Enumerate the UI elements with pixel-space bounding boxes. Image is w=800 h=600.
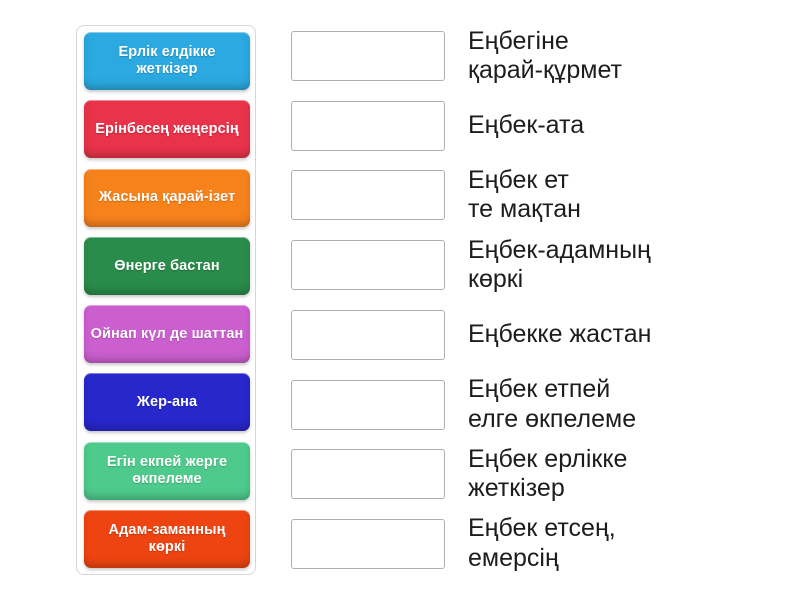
- draggable-tile[interactable]: Ерлік елдікке жеткізер: [84, 32, 250, 90]
- answer-row: Еңбекке жастан: [291, 304, 785, 366]
- answer-text: Еңбек ет те мақтан: [468, 166, 785, 225]
- draggable-tile[interactable]: Жер-ана: [84, 373, 250, 431]
- tile-label: Адам-заманның көркі: [90, 522, 244, 555]
- answer-text: Еңбек етпей елге өкпелеме: [468, 375, 785, 434]
- answer-row: Еңбек ет те мақтан: [291, 164, 785, 226]
- answer-text: Еңбек етсең, емерсің: [468, 514, 785, 573]
- draggable-tile-tray: Ерлік елдікке жеткізер Ерінбесең жеңерсі…: [76, 25, 256, 575]
- drop-slot[interactable]: [291, 170, 445, 220]
- answer-text: Еңбек-адамның көркі: [468, 236, 785, 295]
- tile-label: Егін екпей жерге өкпелеме: [90, 454, 244, 487]
- drop-slot[interactable]: [291, 380, 445, 430]
- answer-text: Еңбек-ата: [468, 111, 785, 141]
- draggable-tile[interactable]: Өнерге бастан: [84, 237, 250, 295]
- draggable-tile[interactable]: Егін екпей жерге өкпелеме: [84, 442, 250, 500]
- answer-row: Еңбек-адамның көркі: [291, 234, 785, 296]
- answer-text: Еңбекке жастан: [468, 320, 785, 350]
- answer-row: Еңбек ерлікке жеткізер: [291, 443, 785, 505]
- tile-label: Ерінбесең жеңерсің: [90, 121, 244, 138]
- answer-row: Еңбек етсең, емерсің: [291, 513, 785, 575]
- tile-label: Өнерге бастан: [90, 258, 244, 275]
- draggable-tile[interactable]: Адам-заманның көркі: [84, 510, 250, 568]
- tile-label: Ойнап күл де шаттан: [90, 326, 244, 343]
- draggable-tile[interactable]: Ерінбесең жеңерсің: [84, 100, 250, 158]
- tile-label: Жасына қарай-ізет: [90, 189, 244, 206]
- drop-slot[interactable]: [291, 31, 445, 81]
- drop-slot[interactable]: [291, 101, 445, 151]
- drop-slot[interactable]: [291, 310, 445, 360]
- answer-text: Еңбегіне қарай-құрмет: [468, 27, 785, 86]
- draggable-tile[interactable]: Ойнап күл де шаттан: [84, 305, 250, 363]
- answer-prompt-list: Еңбегіне қарай-құрмет Еңбек-ата Еңбек ет…: [291, 25, 785, 575]
- answer-text: Еңбек ерлікке жеткізер: [468, 445, 785, 504]
- drop-slot[interactable]: [291, 519, 445, 569]
- draggable-tile[interactable]: Жасына қарай-ізет: [84, 169, 250, 227]
- answer-row: Еңбегіне қарай-құрмет: [291, 25, 785, 87]
- drop-slot[interactable]: [291, 449, 445, 499]
- match-up-activity: Ерлік елдікке жеткізер Ерінбесең жеңерсі…: [0, 0, 800, 600]
- tile-label: Жер-ана: [90, 394, 244, 411]
- tile-label: Ерлік елдікке жеткізер: [90, 44, 244, 77]
- answer-row: Еңбек етпей елге өкпелеме: [291, 374, 785, 436]
- drop-slot[interactable]: [291, 240, 445, 290]
- answer-row: Еңбек-ата: [291, 95, 785, 157]
